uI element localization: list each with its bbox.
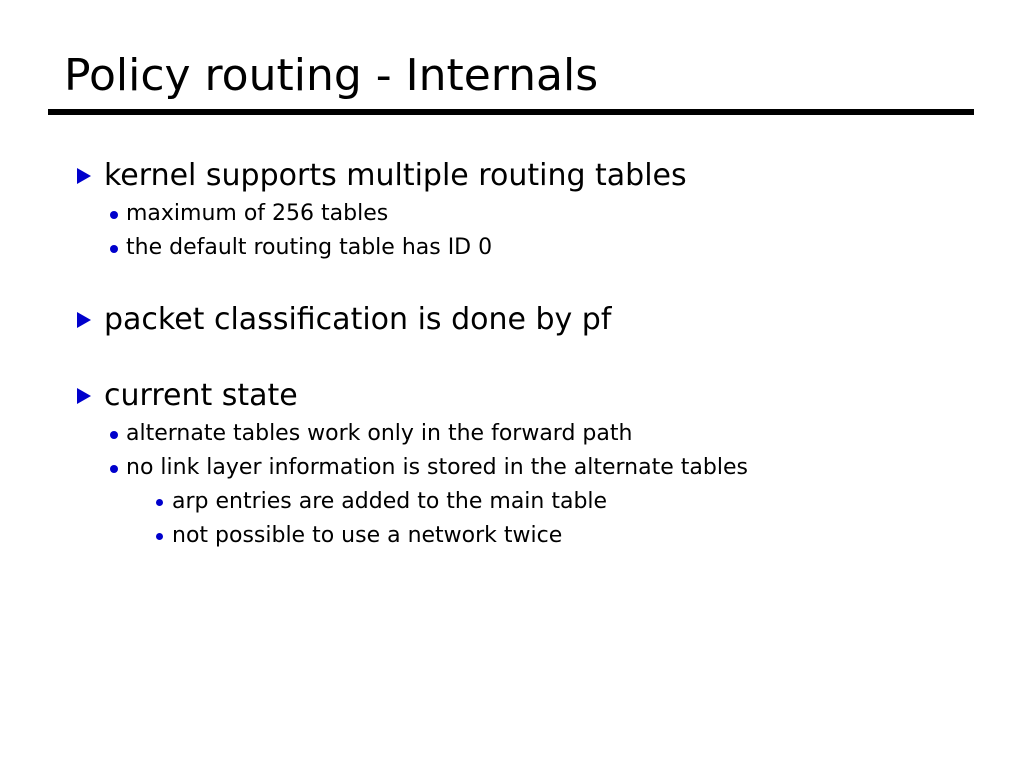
bullet-list-level2: alternate tables work only in the forwar… <box>64 417 984 553</box>
bullet-item-level1: kernel supports multiple routing tables … <box>64 155 984 265</box>
bullet-label-level3: not possible to use a network twice <box>64 519 984 553</box>
slide-content: kernel supports multiple routing tables … <box>64 155 984 553</box>
bullet-label-level3: arp entries are added to the main table <box>64 485 984 519</box>
bullet-label-level2: the default routing table has ID 0 <box>64 231 984 265</box>
bullet-dot-icon <box>110 465 118 473</box>
bullet-list-level1: kernel supports multiple routing tables … <box>64 155 984 553</box>
bullet-dot-icon <box>156 533 163 540</box>
bullet-item-level2: the default routing table has ID 0 <box>64 231 984 265</box>
bullet-dot-icon <box>110 431 118 439</box>
title-block: Policy routing - Internals <box>48 48 974 115</box>
slide: Policy routing - Internals kernel suppor… <box>0 0 1024 768</box>
triangle-right-icon <box>77 168 91 184</box>
bullet-label-level2: alternate tables work only in the forwar… <box>64 417 984 451</box>
bullet-item-level1: current state alternate tables work only… <box>64 375 984 553</box>
bullet-item-level2: no link layer information is stored in t… <box>64 451 984 553</box>
bullet-label-level1: kernel supports multiple routing tables <box>64 155 984 197</box>
bullet-item-level2: maximum of 256 tables <box>64 197 984 231</box>
bullet-label-level2: maximum of 256 tables <box>64 197 984 231</box>
bullet-label-level1: current state <box>64 375 984 417</box>
bullet-item-level3: not possible to use a network twice <box>64 519 984 553</box>
bullet-item-level1: packet classification is done by pf <box>64 299 984 341</box>
triangle-right-icon <box>77 312 91 328</box>
bullet-list-level2: maximum of 256 tables the default routin… <box>64 197 984 265</box>
bullet-label-level1: packet classification is done by pf <box>64 299 984 341</box>
bullet-label-level2: no link layer information is stored in t… <box>64 451 984 485</box>
bullet-dot-icon <box>156 499 163 506</box>
title-underline-rule <box>48 109 974 115</box>
bullet-dot-icon <box>110 245 118 253</box>
bullet-dot-icon <box>110 211 118 219</box>
page-title: Policy routing - Internals <box>48 48 974 104</box>
bullet-item-level2: alternate tables work only in the forwar… <box>64 417 984 451</box>
triangle-right-icon <box>77 388 91 404</box>
bullet-item-level3: arp entries are added to the main table <box>64 485 984 519</box>
bullet-list-level3: arp entries are added to the main table … <box>64 485 984 553</box>
